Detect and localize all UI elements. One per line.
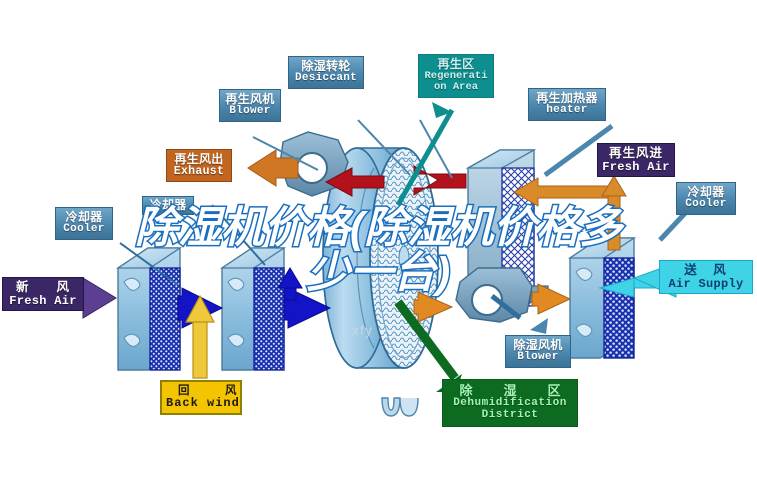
label-fresh-air-en: Fresh Air <box>7 295 79 308</box>
label-fresh-air-cn: 新 风 <box>7 281 79 295</box>
process-cooler-unit-2 <box>222 248 284 370</box>
label-regen-fresh-air-en: Fresh Air <box>602 161 670 174</box>
label-regeneration-area-cn: 再生区 <box>422 58 490 71</box>
label-regeneration-area[interactable]: 再生区 Regenerati on Area <box>418 54 494 98</box>
label-exhaust-en: Exhaust <box>171 166 227 178</box>
label-regeneration-heater[interactable]: 再生加热器 heater <box>528 88 606 121</box>
label-regeneration-heater-en: heater <box>533 105 601 117</box>
label-cooler-left-cn: 冷却器 <box>60 211 108 224</box>
label-cooler-left-upper[interactable]: 冷却器 <box>142 196 194 215</box>
label-dehumidification-blower-cn: 除湿风机 <box>510 339 566 352</box>
process-cooler-unit-1 <box>118 248 180 370</box>
label-exhaust[interactable]: 再生风出 Exhaust <box>166 149 232 182</box>
label-desiccant-wheel[interactable]: 除湿转轮 Desiccant <box>288 56 364 89</box>
label-cooler-left-en: Cooler <box>60 224 108 236</box>
label-dehumidification-blower-en: Blower <box>510 352 566 364</box>
label-regeneration-blower[interactable]: 再生风机 Blower <box>219 89 281 122</box>
label-regeneration-blower-cn: 再生风机 <box>224 93 276 106</box>
label-cooler-left[interactable]: 冷却器 Cooler <box>55 207 113 240</box>
label-dehumidification-district-en2: District <box>446 410 574 422</box>
label-regeneration-heater-cn: 再生加热器 <box>533 92 601 105</box>
label-regeneration-area-en2: on Area <box>422 82 490 93</box>
label-dehumidification-blower[interactable]: 除湿风机 Blower <box>505 335 571 368</box>
dehumidifier-schematic <box>0 0 757 488</box>
label-back-wind-en: Back wind <box>166 397 236 410</box>
label-air-supply[interactable]: 送 风 Air Supply <box>659 260 753 294</box>
label-regeneration-blower-en: Blower <box>224 106 276 118</box>
label-air-supply-cn: 送 风 <box>663 264 749 278</box>
label-cooler-right-en: Cooler <box>681 199 731 211</box>
source-watermark: xfy <box>352 322 373 338</box>
label-cooler-right[interactable]: 冷却器 Cooler <box>676 182 736 215</box>
label-exhaust-cn: 再生风出 <box>171 153 227 166</box>
label-dehumidification-district[interactable]: 除 湿 区 Dehumidification District <box>442 379 578 427</box>
label-back-wind[interactable]: 回 风 Back wind <box>160 380 242 415</box>
label-desiccant-wheel-cn: 除湿转轮 <box>293 60 359 73</box>
label-regen-fresh-air-cn: 再生风进 <box>602 147 670 161</box>
label-regen-fresh-air[interactable]: 再生风进 Fresh Air <box>597 143 675 177</box>
label-dehumidification-district-cn: 除 湿 区 <box>446 384 574 398</box>
flow-arrow-process-2 <box>278 268 330 328</box>
diagram-canvas: 除湿转轮 Desiccant 再生风机 Blower 再生区 Regenerat… <box>0 0 757 488</box>
supply-air-coil-unit <box>570 238 634 358</box>
label-cooler-right-cn: 冷却器 <box>681 186 731 199</box>
label-fresh-air[interactable]: 新 风 Fresh Air <box>2 277 84 311</box>
label-desiccant-wheel-en: Desiccant <box>293 73 359 85</box>
label-cooler-left-upper-cn: 冷却器 <box>146 199 190 212</box>
label-air-supply-en: Air Supply <box>663 278 749 291</box>
